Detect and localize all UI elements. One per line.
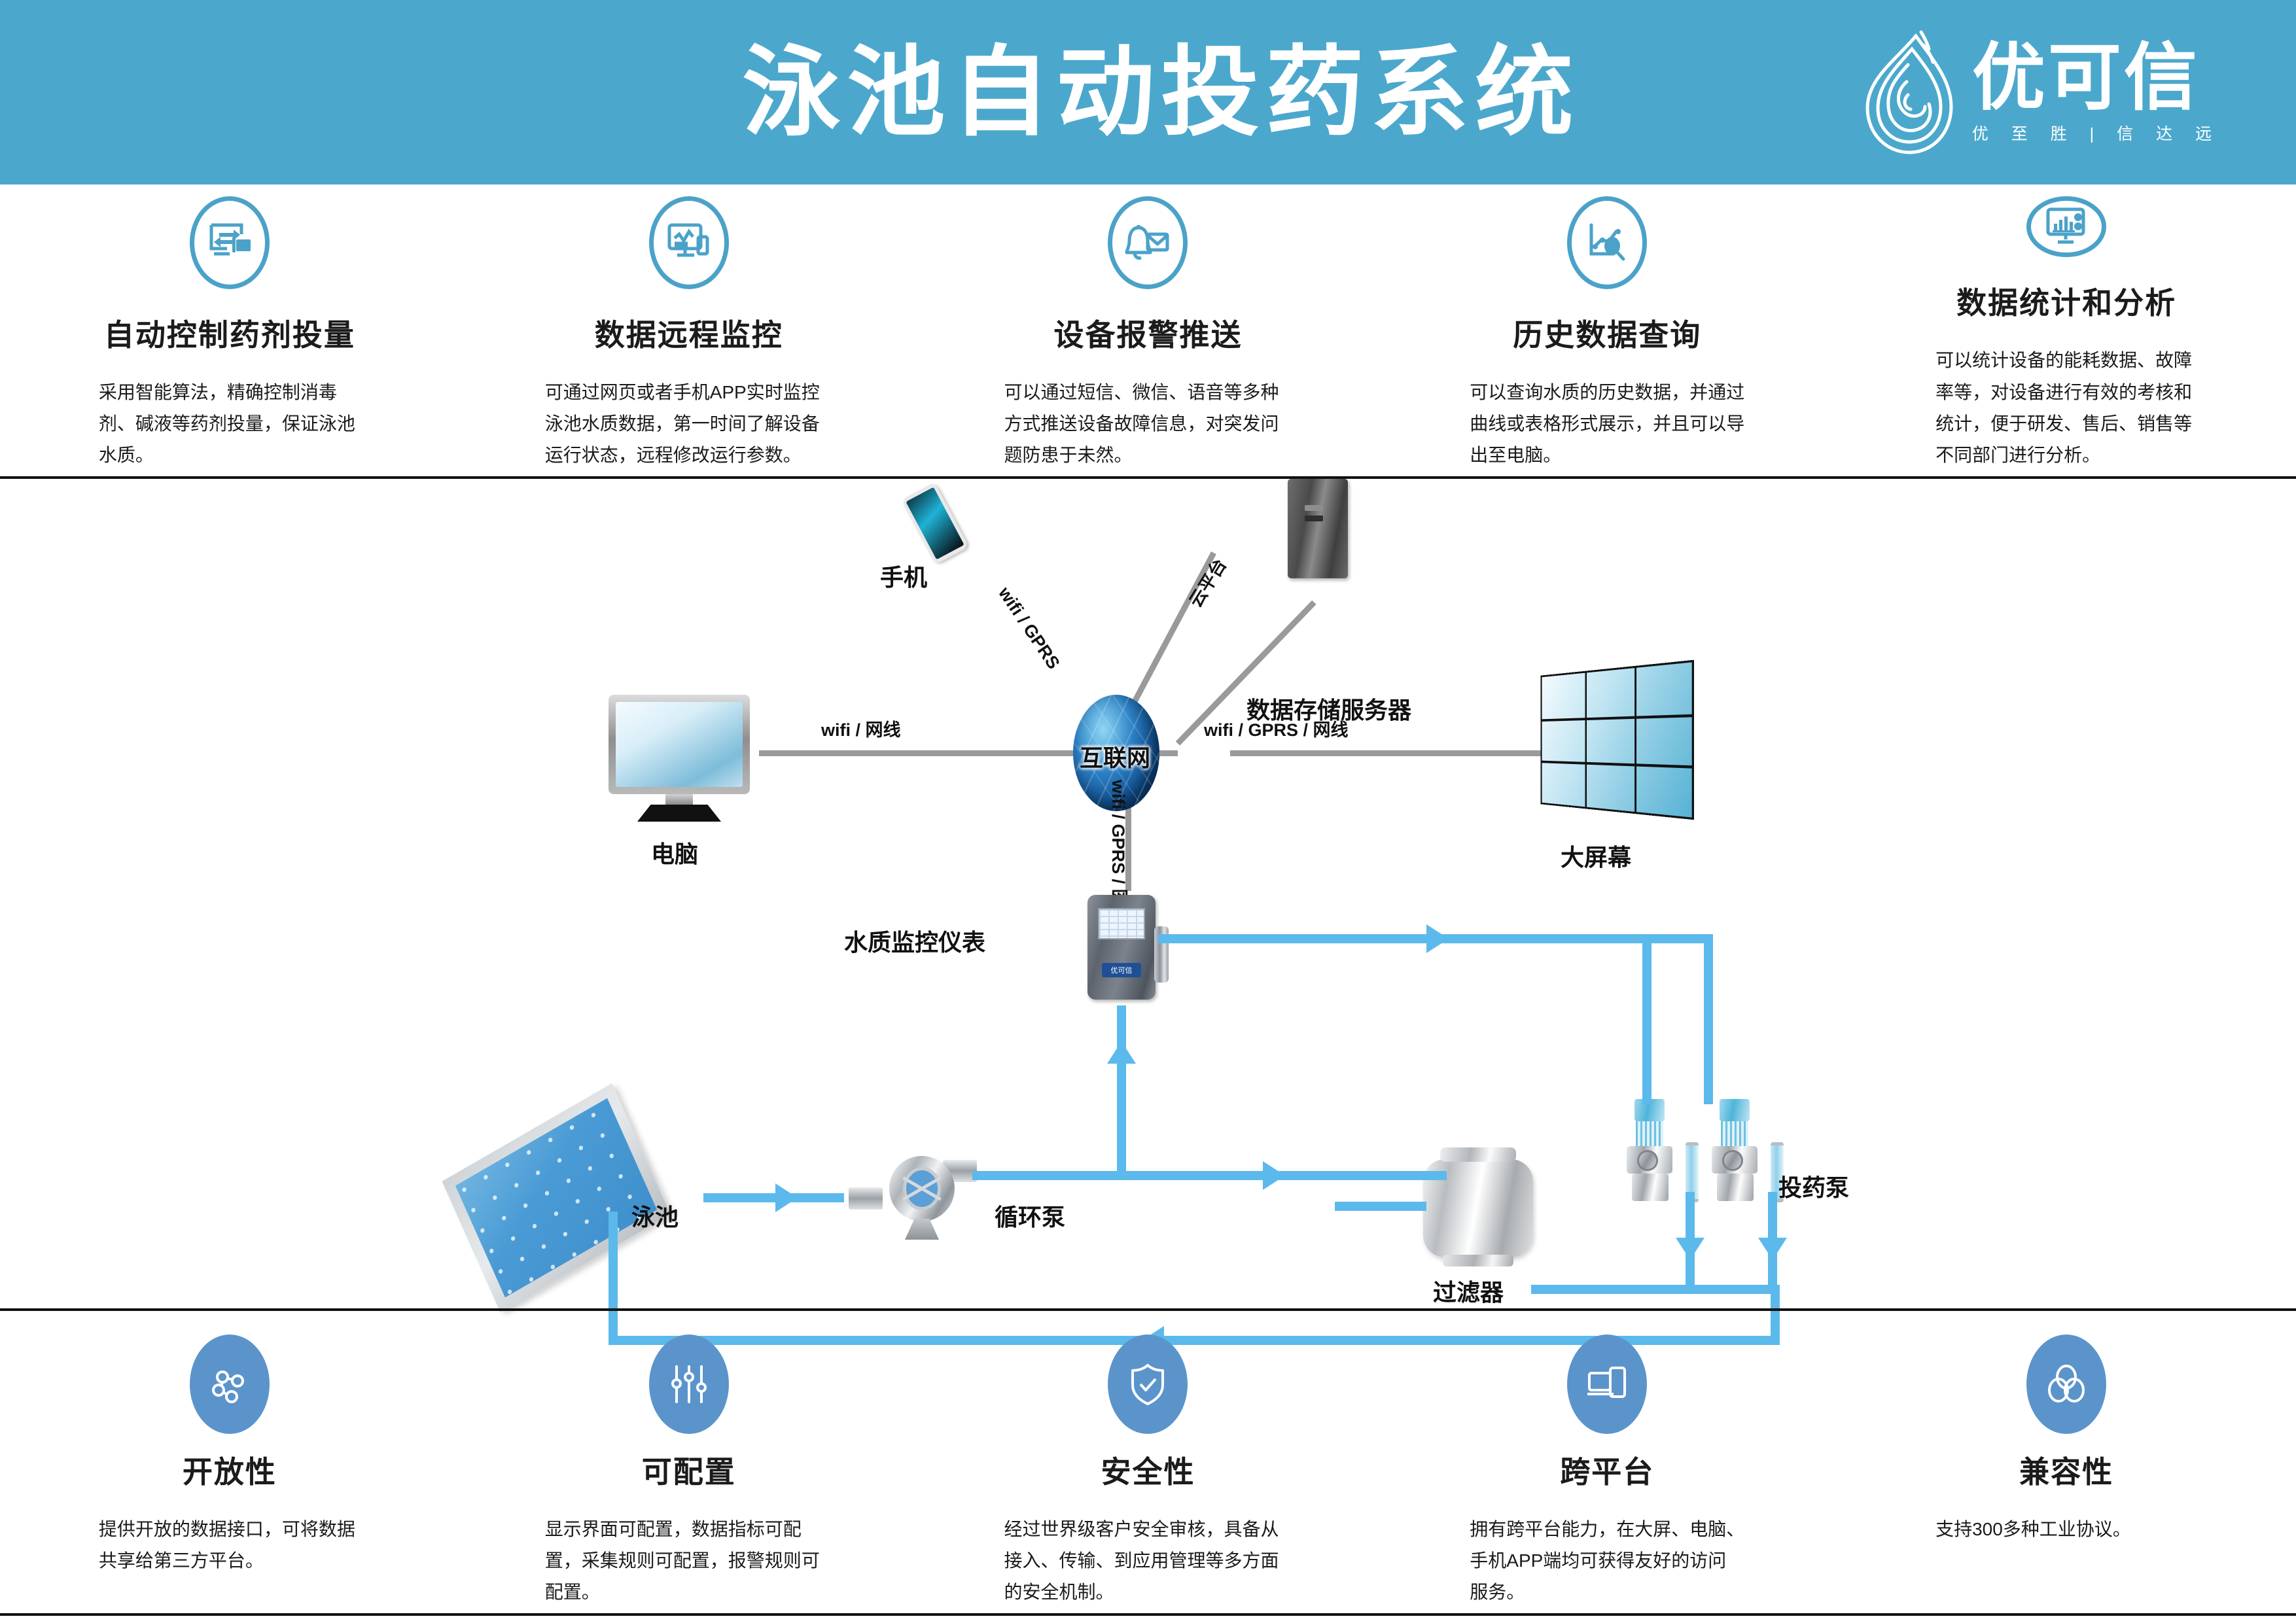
pipe-arrow-dose-2 [1758,1238,1787,1260]
feature-desc: 采用智能算法，精确控制消毒剂、碱液等药剂投量，保证泳池水质。 [99,377,361,471]
pipe-arrow-to-filter [1263,1161,1285,1190]
feature-desc: 可以统计设备的能耗数据、故障率等，对设备进行有效的考核和统计，便于研发、售后、销… [1935,345,2197,471]
node-dosing-pump-1 [1623,1099,1679,1202]
meter-screen [1098,908,1145,939]
label-computer: 电脑 [651,835,698,869]
swimming-pool-icon [442,1083,671,1312]
feature-statistics-analysis: 数据统计和分析 可以统计设备的能耗数据、故障率等，对设备进行有效的考核和统计，便… [1837,196,2296,471]
feature-title: 可配置 [642,1448,736,1492]
circulation-pump-icon [880,1156,964,1240]
dosing-pump-icon [1623,1099,1679,1202]
feature-desc: 经过世界级客户安全审核，具备从接入、传输、到应用管理等多方面的安全机制。 [1004,1514,1292,1608]
feature-desc: 拥有跨平台能力，在大屏、电脑、手机APP端均可获得友好的访问服务。 [1470,1514,1744,1608]
sliders-icon [649,1335,729,1434]
feature-desc: 支持300多种工业协议。 [1935,1514,2197,1545]
feature-remote-monitoring: 数据远程监控 可通过网页或者手机APP实时监控泳池水质数据，第一时间了解设备运行… [459,196,919,471]
label-circulation-pump: 循环泵 [995,1198,1065,1232]
pipe-arrow-dose-1 [1676,1238,1704,1260]
feature-security: 安全性 经过世界级客户安全审核，具备从接入、传输、到应用管理等多方面的安全机制。 [919,1335,1378,1609]
label-filter: 过滤器 [1433,1274,1504,1308]
label-link-cloud: 云平台 [1182,553,1231,611]
system-topology-diagram: 手机 wifi / GPRS 数据存储服务器 云平台 互联网 电脑 wifi /… [0,479,2296,1308]
pipe-arrow-to-pump [775,1183,798,1212]
monitor-exchange-icon [190,196,270,289]
section-divider-footer [0,1613,2296,1616]
feature-desc: 可以通过短信、微信、语音等多种方式推送设备故障信息，对突发问题防患于未然。 [1004,377,1292,471]
pipe-into-filter [1335,1202,1426,1211]
node-server [1288,479,1348,578]
feature-title: 历史数据查询 [1513,311,1701,355]
brand-slogan: 优 至 胜 | 信 达 远 [1972,121,2221,145]
feature-title: 安全性 [1101,1448,1195,1492]
label-link-phone: wifi / GPRS [994,584,1063,673]
feature-alarm-push: 设备报警推送 可以通过短信、微信、语音等多种方式推送设备故障信息，对突发问题防患… [919,196,1378,471]
chart-magnifier-icon [1567,196,1647,289]
feature-auto-dosing: 自动控制药剂投量 采用智能算法，精确控制消毒剂、碱液等药剂投量，保证泳池水质。 [0,196,459,471]
pipe-return-riser-pool [609,1212,618,1342]
label-water-quality-meter: 水质监控仪表 [844,924,985,958]
bottom-feature-row: 开放性 提供开放的数据接口，可将数据共享给第三方平台。 可配置 显示界面可配置，… [0,1335,2296,1609]
node-bigscreen [1525,669,1693,811]
water-quality-meter-icon: 优可信 [1087,895,1156,1000]
feature-title: 数据统计和分析 [1956,279,2176,323]
node-computer [609,695,750,822]
monitor-bar-pie-icon [2026,196,2106,257]
node-dosing-pump-2 [1708,1099,1764,1202]
label-link-bigscreen: wifi / GPRS / 网线 [1204,716,1349,741]
feature-title: 设备报警推送 [1053,311,1242,355]
feature-title: 数据远程监控 [595,311,783,355]
feature-desc: 提供开放的数据接口，可将数据共享给第三方平台。 [99,1514,361,1577]
label-link-computer: wifi / 网线 [821,716,901,741]
bell-envelope-icon [1108,196,1188,289]
phone-device-icon [901,482,969,565]
pipe-arrow-to-meter [1107,1041,1136,1064]
node-pool [458,1126,654,1269]
feature-title: 跨平台 [1560,1448,1654,1492]
page-header: 泳池自动投药系统 优可信 优 至 胜 | 信 达 远 [0,0,2296,184]
pipe-drop-pump-1 [1642,934,1651,1104]
shield-check-icon [1108,1335,1188,1434]
node-circulation-pump [880,1156,964,1240]
label-dosing-pump: 投药泵 [1778,1169,1849,1203]
dosing-pump-icon [1708,1099,1764,1202]
feature-cross-platform: 跨平台 拥有跨平台能力，在大屏、电脑、手机APP端均可获得友好的访问服务。 [1377,1335,1837,1609]
feature-compatibility: 兼容性 支持300多种工业协议。 [1837,1335,2296,1609]
pipe-pool-to-pump [703,1193,844,1202]
feature-title: 开放性 [183,1448,277,1492]
label-internet: 互联网 [1080,739,1150,773]
monitor-chart-phone-icon [649,196,729,289]
section-divider-bottom [0,1308,2296,1311]
page-title: 泳池自动投药系统 [742,43,1580,141]
waterdrop-fingerprint-icon [1856,27,1960,158]
meter-brand-badge: 优可信 [1102,963,1141,977]
feature-desc: 可通过网页或者手机APP实时监控泳池水质数据，第一时间了解设备运行状态，远程修改… [545,377,833,471]
pipe-pump-to-filter [972,1171,1447,1180]
brand-logo: 优可信 优 至 胜 | 信 达 远 [1856,25,2221,159]
label-bigscreen: 大屏幕 [1561,839,1631,873]
server-rack-icon [1288,479,1348,578]
brand-name: 优可信 [1972,39,2221,116]
devices-icon [1567,1335,1647,1434]
pipe-filter-out [1531,1285,1780,1294]
feature-desc: 可以查询水质的历史数据，并通过曲线或表格形式展示，并且可以导出至电脑。 [1470,377,1744,471]
monitor-icon [609,695,750,794]
feature-title: 兼容性 [2019,1448,2113,1492]
label-pool: 泳池 [631,1198,679,1232]
venn-circles-icon [2026,1335,2106,1434]
pipe-to-meter [1117,1005,1126,1174]
node-water-quality-meter: 优可信 [1087,895,1156,1000]
feature-desc: 显示界面可配置，数据指标可配置，采集规则可配置，报警规则可配置。 [545,1514,833,1608]
feature-title: 自动控制药剂投量 [104,311,355,355]
video-wall-icon [1540,660,1694,820]
top-feature-row: 自动控制药剂投量 采用智能算法，精确控制消毒剂、碱液等药剂投量，保证泳池水质。 … [0,196,2296,471]
label-phone: 手机 [880,559,927,593]
node-phone [916,487,954,560]
pipe-arrow-top-rail [1426,924,1449,953]
share-nodes-icon [190,1335,270,1434]
feature-openness: 开放性 提供开放的数据接口，可将数据共享给第三方平台。 [0,1335,459,1609]
feature-configurable: 可配置 显示界面可配置，数据指标可配置，采集规则可配置，报警规则可配置。 [459,1335,919,1609]
feature-history-query: 历史数据查询 可以查询水质的历史数据，并通过曲线或表格形式展示，并且可以导出至电… [1377,196,1837,471]
wire-internet-to-bigscreen [1230,750,1570,756]
pipe-drop-pump-2 [1704,934,1713,1104]
